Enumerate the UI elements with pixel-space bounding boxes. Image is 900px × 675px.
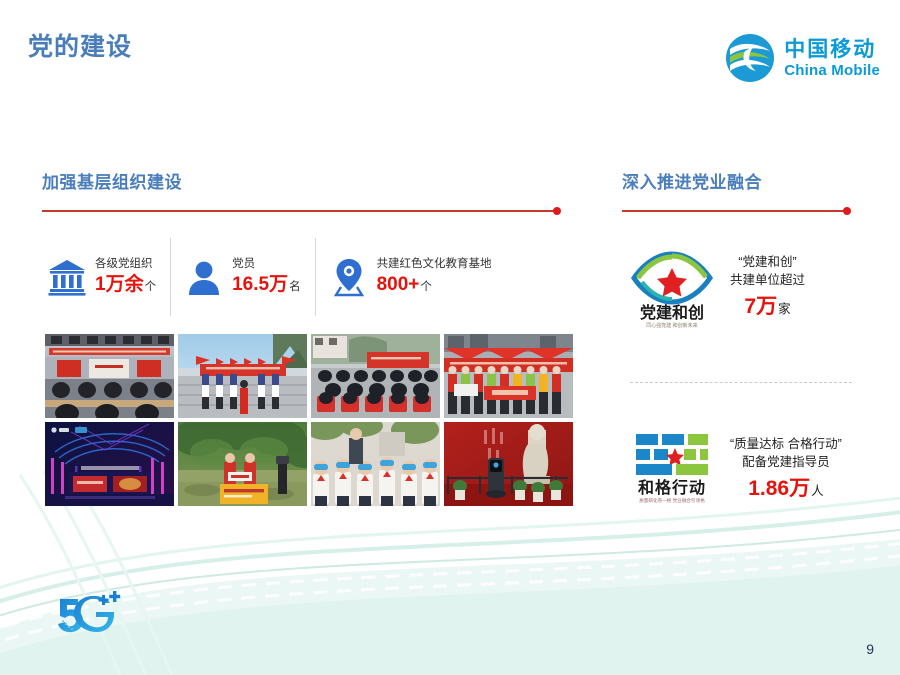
stats-row: 各级党组织 1万余个 党员 16.5万名 共建红色文化教育基地 800+个 [44, 238, 564, 316]
stat-item: 共建红色文化教育基地 800+个 [315, 238, 506, 316]
brand-name-cn: 中国移动 [784, 39, 880, 60]
rule-dot [553, 207, 561, 215]
right-section-header: 深入推进党业融合 [622, 168, 850, 215]
stat-value: 16.5万名 [232, 274, 300, 296]
card-value: 7万家 [744, 292, 790, 322]
hege-xingdong-logo: 和格行动 质量研化卷一格 党业融合引领格 [626, 428, 718, 512]
right-section-rule [622, 206, 850, 215]
page-title: 党的建设 [28, 27, 132, 63]
logo-subtext: 同心强党建 和创新未来 [646, 322, 697, 329]
stat-value: 1万余个 [95, 274, 156, 296]
5g-plus-plus-logo [52, 589, 124, 637]
stat-item: 党员 16.5万名 [170, 238, 314, 316]
left-section-header: 加强基层组织建设 [42, 168, 560, 215]
card-line-2: 共建单位超过 [730, 271, 805, 289]
logo-text: 和格行动 [638, 478, 706, 497]
stat-item: 各级党组织 1万余个 [44, 238, 170, 316]
stat-unit: 个 [420, 281, 432, 293]
stat-label: 各级党组织 [95, 258, 156, 272]
map-pin-icon [330, 257, 368, 297]
photo-thumbnail [444, 334, 573, 418]
stat-label: 党员 [232, 258, 300, 272]
left-section-title: 加强基层组织建设 [42, 168, 560, 193]
dangjian-hechuang-logo: 党建和创 同心强党建 和创新未来 [626, 246, 718, 330]
stat-label: 共建红色文化教育基地 [377, 258, 492, 272]
stat-unit: 名 [289, 281, 301, 293]
photo-thumbnail [178, 422, 307, 506]
right-section-title: 深入推进党业融合 [622, 168, 850, 193]
photo-thumbnail [45, 334, 174, 418]
card-unit: 家 [778, 302, 791, 316]
rule-line [622, 210, 850, 212]
page-number: 9 [866, 641, 874, 657]
logo-subtext: 质量研化卷一格 党业融合引领格 [639, 497, 705, 504]
photo-thumbnail [444, 422, 573, 506]
card-unit: 人 [811, 484, 824, 498]
bank-building-icon [48, 257, 86, 297]
rule-dot [843, 207, 851, 215]
logo-text: 党建和创 [640, 303, 704, 322]
rule-line [42, 210, 560, 212]
right-card: 和格行动 质量研化卷一格 党业融合引领格 “质量达标 合格行动” 配备党建指导员… [626, 428, 842, 512]
card-line-1: “党建和创” [738, 253, 796, 271]
right-cards-divider [630, 382, 852, 383]
china-mobile-logo: 中国移动 China Mobile [725, 33, 880, 83]
photo-thumbnail [45, 422, 174, 506]
stat-value: 800+个 [377, 274, 492, 296]
photo-thumbnail [178, 334, 307, 418]
person-icon [185, 257, 223, 297]
right-card: 党建和创 同心强党建 和创新未来 “党建和创” 共建单位超过 7万家 [626, 246, 805, 330]
left-section-rule [42, 206, 560, 215]
card-line-2: 配备党建指导员 [742, 453, 830, 471]
photo-grid [45, 334, 573, 506]
photo-thumbnail [311, 334, 440, 418]
china-mobile-wave-icon [725, 33, 775, 83]
brand-name-en: China Mobile [784, 63, 880, 78]
card-line-1: “质量达标 合格行动” [730, 435, 842, 453]
stat-unit: 个 [145, 281, 157, 293]
photo-thumbnail [311, 422, 440, 506]
card-value: 1.86万人 [748, 474, 823, 504]
